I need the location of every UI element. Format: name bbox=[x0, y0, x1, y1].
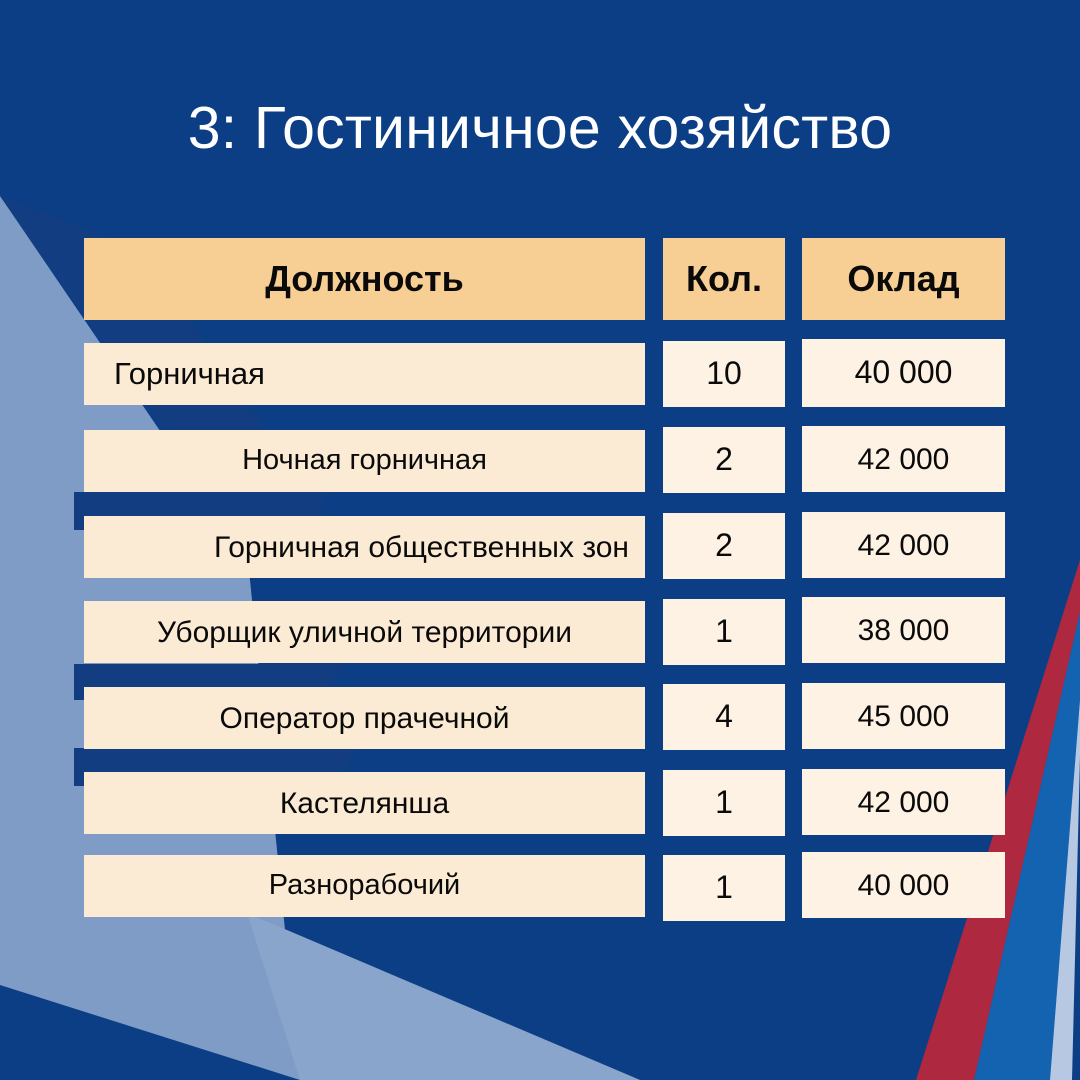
table-cell-position: Кастелянша bbox=[84, 772, 645, 834]
table-cell-salary: 45 000 bbox=[802, 683, 1005, 749]
table-cell-position: Горничная общественных зон bbox=[84, 516, 645, 578]
column-header-count: Кол. bbox=[663, 238, 785, 320]
table-cell-count: 2 bbox=[663, 427, 785, 493]
table-cell-count: 4 bbox=[663, 684, 785, 750]
table-cell-salary: 42 000 bbox=[802, 769, 1005, 835]
table-cell-count: 2 bbox=[663, 513, 785, 579]
table-cell-position: Горничная bbox=[84, 343, 645, 405]
table-cell-count: 10 bbox=[663, 341, 785, 407]
table-cell-count: 1 bbox=[663, 599, 785, 665]
table-cell-position: Оператор прачечной bbox=[84, 687, 645, 749]
table-cell-count: 1 bbox=[663, 770, 785, 836]
table-cell-position: Разнорабочий bbox=[84, 855, 645, 917]
table-cell-salary: 38 000 bbox=[802, 597, 1005, 663]
table-cell-salary: 40 000 bbox=[802, 852, 1005, 918]
column-header-salary: Оклад bbox=[802, 238, 1005, 320]
table-cell-salary: 42 000 bbox=[802, 512, 1005, 578]
table-cell-salary: 42 000 bbox=[802, 426, 1005, 492]
column-header-position: Должность bbox=[84, 238, 645, 320]
table-cell-position: Уборщик уличной территории bbox=[84, 601, 645, 663]
table-cell-count: 1 bbox=[663, 855, 785, 921]
table-cell-salary: 40 000 bbox=[802, 339, 1005, 407]
slide-canvas: 3: Гостиничное хозяйство ДолжностьКол.Ок… bbox=[0, 0, 1080, 1080]
table-cell-position: Ночная горничная bbox=[84, 430, 645, 492]
page-title: 3: Гостиничное хозяйство bbox=[0, 92, 1080, 164]
